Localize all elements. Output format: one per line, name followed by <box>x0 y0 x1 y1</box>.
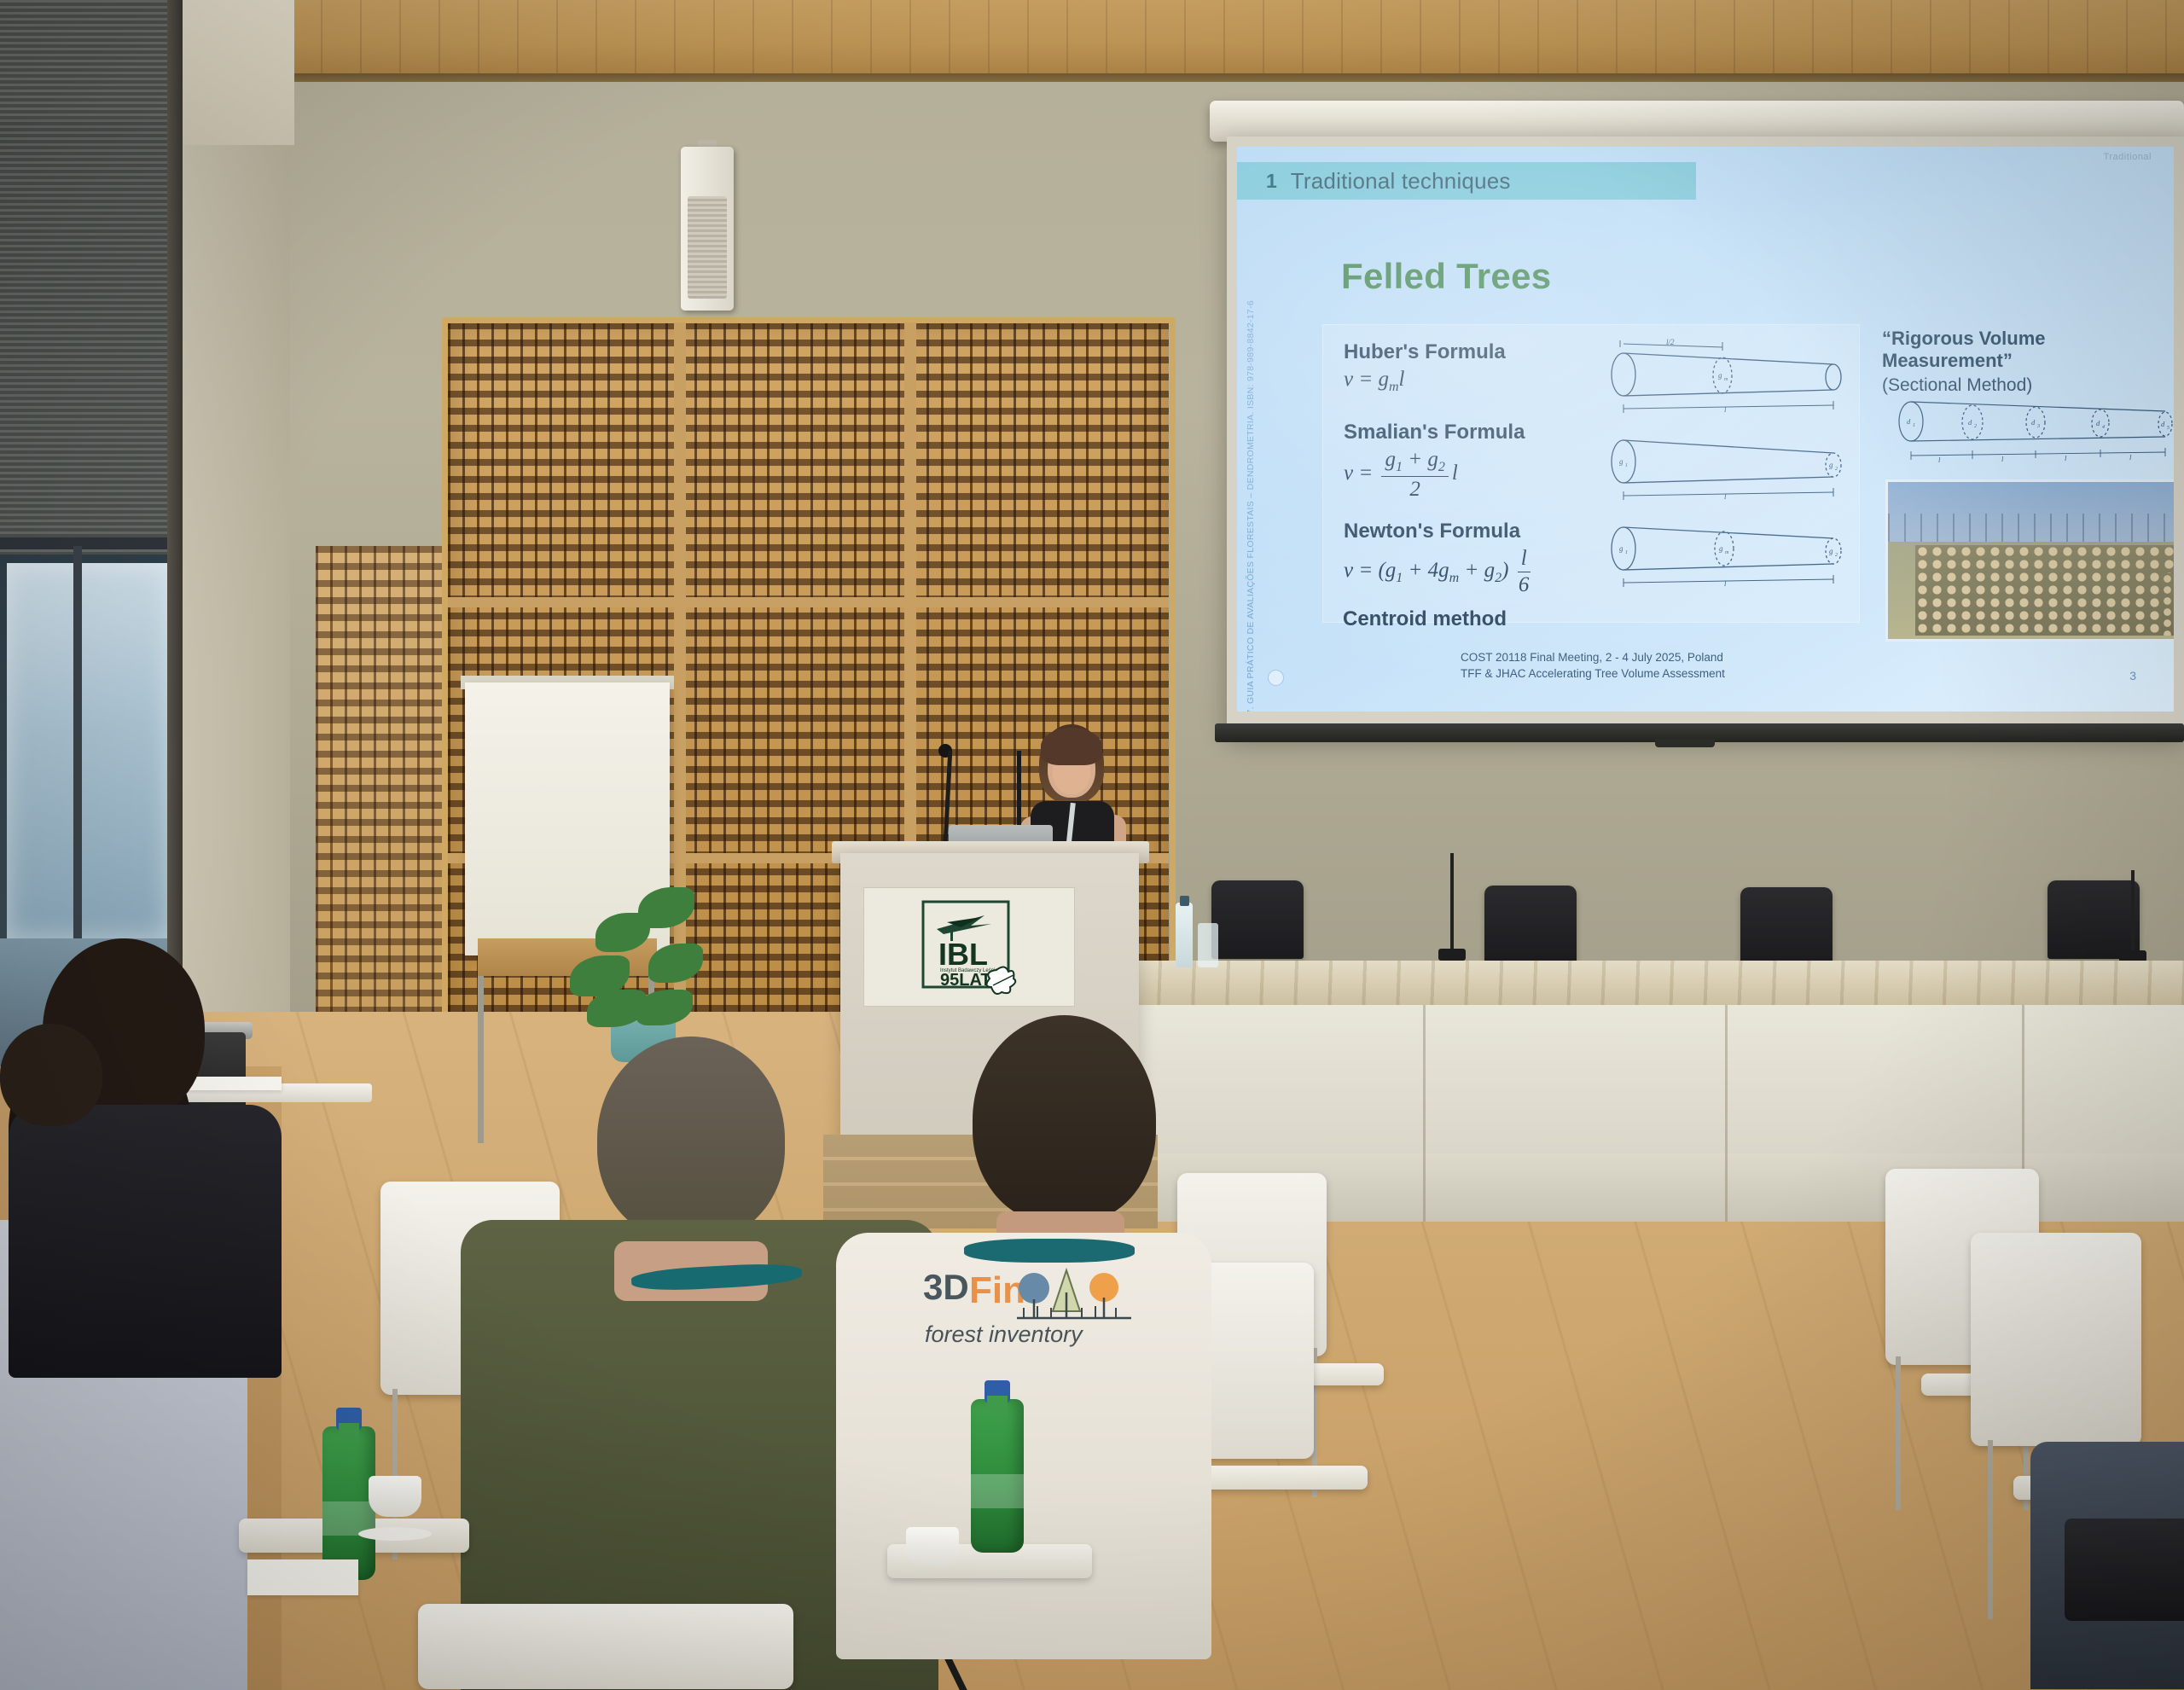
desk-seam <box>1725 1005 1728 1222</box>
plant-leaf <box>648 944 703 983</box>
podium-sign: IBL Instytut Badawczy Leśnictwa 95LAT <box>863 887 1075 1007</box>
person-head <box>0 1024 102 1126</box>
tshirt-print-3dfin: 3D Fin forest inventory <box>887 1241 1160 1386</box>
tshirt-brand-suffix: Fin <box>969 1269 1025 1311</box>
window-glass <box>7 563 169 938</box>
saucer <box>358 1527 432 1541</box>
log-pile-photo <box>1885 479 2174 642</box>
svg-text:1: 1 <box>1913 423 1915 428</box>
chair-leg <box>1896 1356 1901 1510</box>
svg-text:g: g <box>1719 544 1723 553</box>
svg-text:3: 3 <box>2036 424 2040 429</box>
formula-newton-name: Newton's Formula <box>1344 520 1534 543</box>
projection-screen: 1 Traditional techniques Traditional Mar… <box>1227 136 2184 734</box>
tablet-device[interactable] <box>2065 1519 2184 1621</box>
formula-smalian-name: Smalian's Formula <box>1344 421 1525 444</box>
panel-microphone <box>2131 870 2135 955</box>
formula-huber-expression: v = gml <box>1344 368 1506 395</box>
svg-text:2: 2 <box>1835 467 1838 472</box>
log-diagrams: l/2 l gm g1 g2 l g1 gm g2 l <box>1605 334 1852 615</box>
svg-text:g: g <box>1619 457 1623 466</box>
plant-leaf <box>638 887 694 928</box>
slide-side-citation: Marques et al. 2017. GUIA PRÁTICO DE AVA… <box>1246 300 1256 711</box>
svg-text:1: 1 <box>1625 550 1628 555</box>
window-blind <box>0 0 175 555</box>
panel-chair <box>2047 880 2140 959</box>
panel-chair <box>1211 880 1304 959</box>
panel-chair <box>1740 887 1833 966</box>
wood-ceiling <box>282 0 2184 78</box>
svg-text:d: d <box>1968 418 1972 427</box>
panel-microphone-base <box>1438 949 1466 961</box>
person-head <box>973 1015 1156 1224</box>
photo-log-stack <box>1915 545 2174 636</box>
rigorous-volume-subtitle: (Sectional Method) <box>1882 375 2164 396</box>
person-head <box>597 1037 785 1241</box>
svg-text:d: d <box>2096 419 2100 427</box>
slide-section-title: Traditional techniques <box>1291 168 1511 195</box>
slide-footer-line-1: COST 20118 Final Meeting, 2 - 4 July 202… <box>1461 649 1725 666</box>
audience-chair <box>418 1604 793 1689</box>
svg-text:g: g <box>1718 371 1722 380</box>
conference-room-photo: 1 Traditional techniques Traditional Mar… <box>0 0 2184 1690</box>
projection-screen-housing <box>1210 101 2184 142</box>
speaker-grille <box>688 196 727 299</box>
svg-text:m: m <box>1725 550 1729 555</box>
coffee-cup <box>369 1476 421 1517</box>
svg-text:m: m <box>1724 377 1728 382</box>
svg-text:g: g <box>1829 461 1833 469</box>
tshirt-tagline: forest inventory <box>925 1321 1083 1347</box>
tshirt-logo-icon: 3D Fin forest inventory <box>921 1258 1135 1352</box>
slide-section-header: 1 Traditional techniques <box>1237 162 1696 200</box>
chair-leg <box>1988 1440 1993 1619</box>
slide-corner-bullet-icon <box>1268 670 1284 686</box>
slide-heading: Felled Trees <box>1341 256 1551 297</box>
slide-top-right-mark: Traditional <box>2104 152 2152 162</box>
svg-text:l: l <box>1724 405 1727 414</box>
audience-chair <box>1971 1233 2141 1446</box>
svg-text:l: l <box>2001 455 2004 463</box>
svg-text:l: l <box>1724 579 1727 588</box>
svg-text:d: d <box>2031 418 2036 427</box>
formula-newton-expression: v = (g1 + 4gm + g2) l6 <box>1344 547 1534 597</box>
panel-desk-front <box>1124 1005 2184 1176</box>
audience-person <box>2030 1442 2184 1689</box>
panel-chair <box>1484 886 1577 964</box>
svg-text:d: d <box>2161 420 2165 428</box>
formula-panel: Huber's Formula v = gml Smalian's Formul… <box>1322 324 1860 623</box>
left-wall <box>171 0 290 1058</box>
svg-text:IBL: IBL <box>938 937 988 972</box>
window-post <box>167 0 183 1083</box>
panel-desk-surface <box>1124 961 2184 1007</box>
svg-text:5: 5 <box>2167 426 2169 431</box>
slide-footer: COST 20118 Final Meeting, 2 - 4 July 202… <box>1461 649 1725 682</box>
drinking-glass <box>1198 923 1218 967</box>
window-mullion <box>73 546 82 947</box>
potted-plant <box>570 862 715 1058</box>
svg-text:d: d <box>1907 417 1911 426</box>
svg-text:2: 2 <box>1974 424 1977 429</box>
svg-text:l/2: l/2 <box>1666 338 1675 346</box>
panel-seam <box>448 597 1169 607</box>
rigorous-volume-title: “Rigorous Volume Measurement” <box>1882 328 2164 372</box>
slide-footer-line-2: TFF & JHAC Accelerating Tree Volume Asse… <box>1461 665 1725 682</box>
formula-newton: Newton's Formula v = (g1 + 4gm + g2) l6 <box>1344 520 1534 597</box>
svg-text:95LAT: 95LAT <box>940 971 991 990</box>
bottle-neck <box>339 1423 359 1442</box>
panel-microphone <box>1450 853 1454 954</box>
chair-writing-tablet <box>1184 1466 1368 1490</box>
svg-text:g: g <box>1829 547 1833 555</box>
formula-smalian-expression: v = g1 + g22l <box>1344 448 1525 502</box>
slide-section-number: 1 <box>1266 170 1277 193</box>
svg-text:l: l <box>2129 453 2132 462</box>
ibl-logo: IBL Instytut Badawczy Leśnictwa 95LAT <box>918 897 1020 997</box>
svg-text:4: 4 <box>2102 424 2105 430</box>
screen-pull-tab <box>1655 739 1715 747</box>
formula-huber-name: Huber's Formula <box>1344 340 1506 364</box>
bottle-label <box>971 1474 1024 1508</box>
formula-huber: Huber's Formula v = gml <box>1344 340 1506 395</box>
svg-text:l: l <box>1938 456 1941 464</box>
water-bottle-panel <box>1176 903 1193 967</box>
rigorous-volume-block: “Rigorous Volume Measurement” (Sectional… <box>1882 328 2164 396</box>
photo-log-stack-secondary <box>2161 573 2174 636</box>
bottle-cap <box>1180 896 1189 906</box>
presentation-slide: 1 Traditional techniques Traditional Mar… <box>1237 147 2174 711</box>
tree-icons <box>1019 1270 1118 1318</box>
svg-text:1: 1 <box>1625 463 1628 468</box>
coffee-cup <box>906 1527 959 1568</box>
bottle-neck <box>987 1396 1008 1414</box>
svg-text:g: g <box>1619 544 1623 553</box>
tshirt-brand-prefix: 3D <box>923 1267 969 1307</box>
slide-page-number: 3 <box>2129 669 2136 682</box>
formula-smalian: Smalian's Formula v = g1 + g22l <box>1344 421 1525 502</box>
svg-text:2: 2 <box>1835 553 1838 558</box>
window-frame-rail <box>0 537 175 549</box>
svg-text:l: l <box>2065 454 2067 462</box>
sectional-method-diagram: d1 d2 d3 d4 d5 llll <box>1894 394 2174 471</box>
audience-person <box>0 1024 128 1160</box>
presenter-fringe <box>1041 728 1102 765</box>
svg-text:l: l <box>1724 492 1727 501</box>
paper-sheet <box>247 1559 358 1595</box>
left-wall-upper <box>171 0 294 145</box>
slide-centroid-method: Centroid method <box>1343 607 1507 631</box>
desk-seam <box>1423 1005 1426 1222</box>
